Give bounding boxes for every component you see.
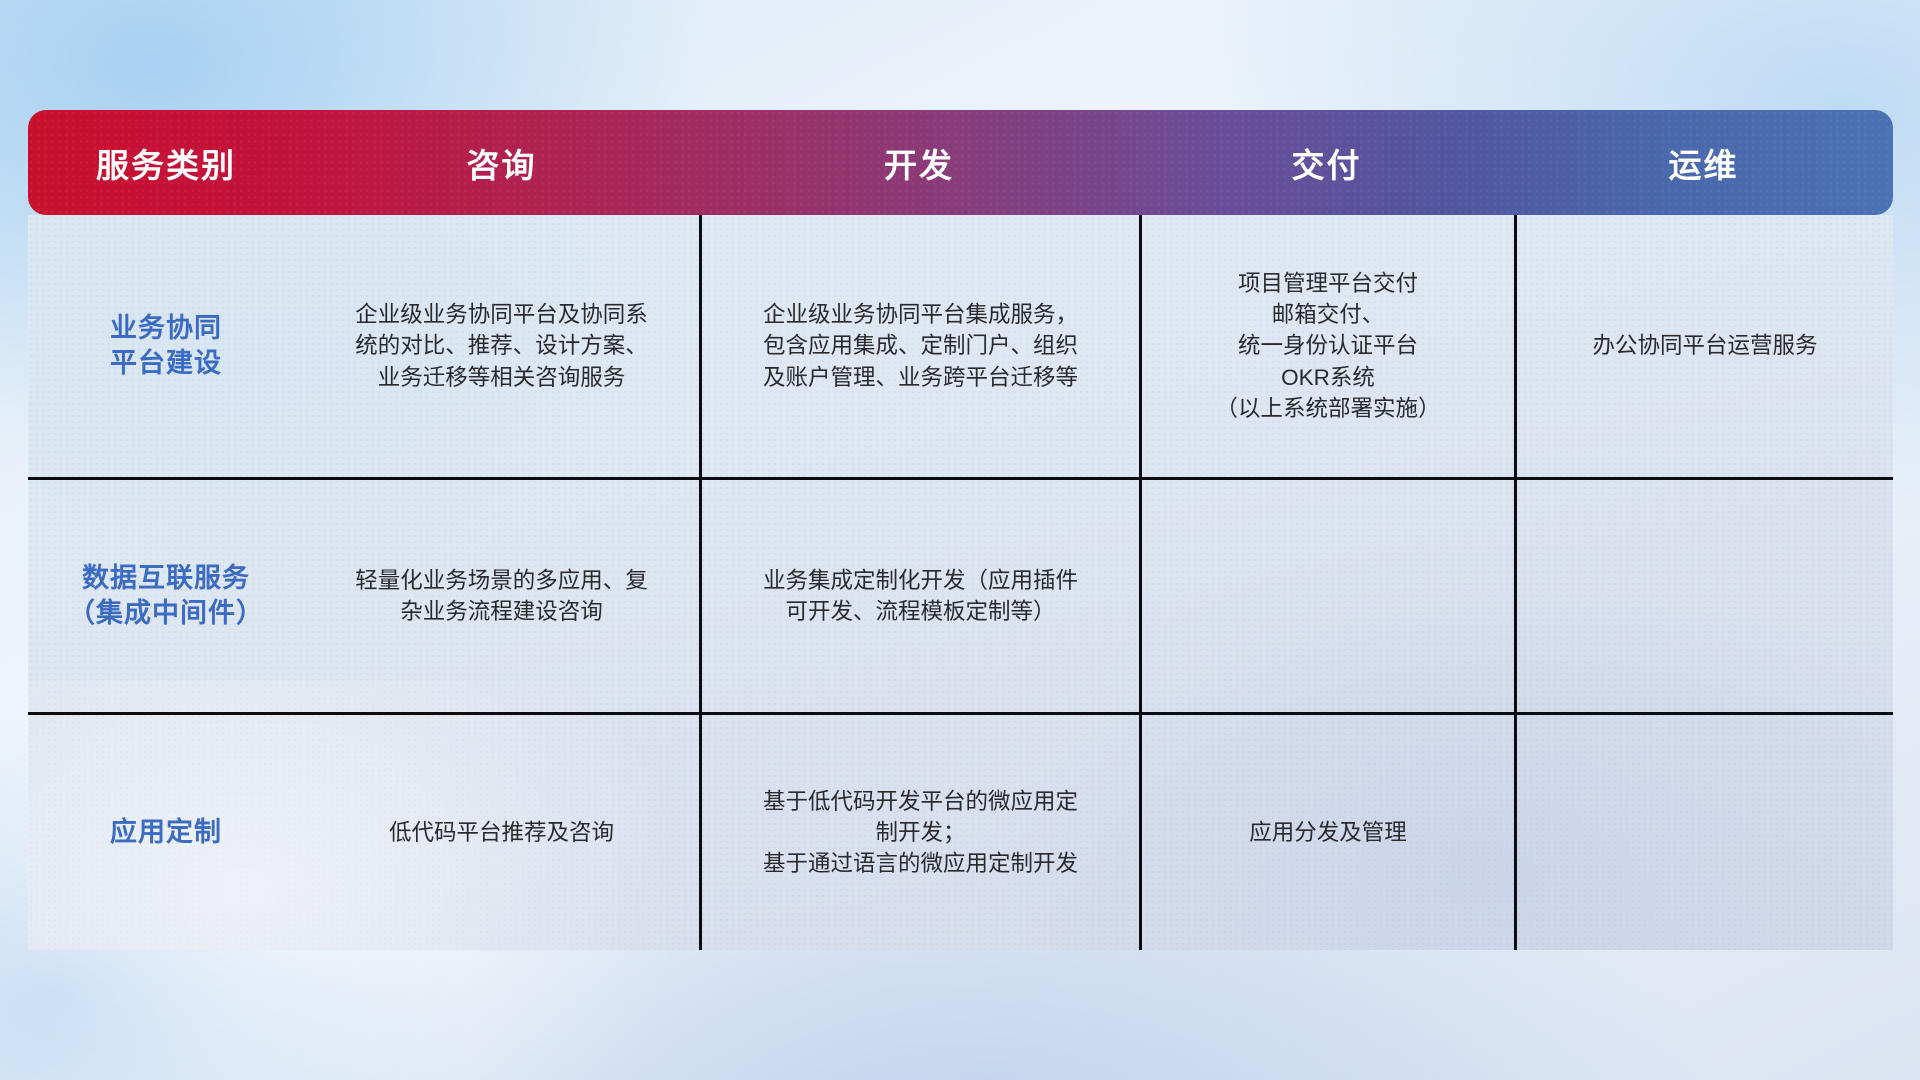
table-row: 应用定制 低代码平台推荐及咨询 基于低代码开发平台的微应用定 制开发； 基于通过… bbox=[28, 715, 1893, 950]
row-header-data-interconnection-service: 数据互联服务 （集成中间件） bbox=[28, 480, 304, 712]
column-header-operations: 运维 bbox=[1514, 139, 1893, 187]
cell-data-interconnection-delivery bbox=[1139, 480, 1514, 712]
cell-application-customization-delivery: 应用分发及管理 bbox=[1139, 715, 1514, 950]
table-header-row: 服务类别 咨询 开发 交付 运维 bbox=[28, 110, 1893, 215]
row-header-business-collaboration-platform: 业务协同 平台建设 bbox=[28, 215, 304, 477]
column-header-service-category: 服务类别 bbox=[28, 139, 304, 187]
cell-business-collaboration-delivery: 项目管理平台交付 邮箱交付、 统一身份认证平台 OKR系统 （以上系统部署实施） bbox=[1139, 215, 1514, 477]
table-row: 数据互联服务 （集成中间件） 轻量化业务场景的多应用、复 杂业务流程建设咨询 业… bbox=[28, 480, 1893, 715]
cell-business-collaboration-development: 企业级业务协同平台集成服务， 包含应用集成、定制门户、组织 及账户管理、业务跨平… bbox=[699, 215, 1139, 477]
cell-data-interconnection-operations bbox=[1514, 480, 1893, 712]
cell-application-customization-development: 基于低代码开发平台的微应用定 制开发； 基于通过语言的微应用定制开发 bbox=[699, 715, 1139, 950]
column-header-consulting: 咨询 bbox=[304, 139, 699, 187]
service-matrix-table: 服务类别 咨询 开发 交付 运维 业务协同 平台建设 企业级业务协同平台及协同系… bbox=[28, 110, 1893, 950]
row-header-application-customization: 应用定制 bbox=[28, 715, 304, 950]
cell-application-customization-consulting: 低代码平台推荐及咨询 bbox=[304, 715, 699, 950]
cell-application-customization-operations bbox=[1514, 715, 1893, 950]
column-header-delivery: 交付 bbox=[1139, 139, 1514, 187]
cell-data-interconnection-consulting: 轻量化业务场景的多应用、复 杂业务流程建设咨询 bbox=[304, 480, 699, 712]
column-header-development: 开发 bbox=[699, 139, 1139, 187]
slide-canvas: 服务类别 咨询 开发 交付 运维 业务协同 平台建设 企业级业务协同平台及协同系… bbox=[0, 0, 1920, 1080]
table-body: 业务协同 平台建设 企业级业务协同平台及协同系 统的对比、推荐、设计方案、 业务… bbox=[28, 215, 1893, 950]
cell-business-collaboration-operations: 办公协同平台运营服务 bbox=[1514, 215, 1893, 477]
cell-business-collaboration-consulting: 企业级业务协同平台及协同系 统的对比、推荐、设计方案、 业务迁移等相关咨询服务 bbox=[304, 215, 699, 477]
cell-data-interconnection-development: 业务集成定制化开发（应用插件 可开发、流程模板定制等） bbox=[699, 480, 1139, 712]
table-row: 业务协同 平台建设 企业级业务协同平台及协同系 统的对比、推荐、设计方案、 业务… bbox=[28, 215, 1893, 480]
